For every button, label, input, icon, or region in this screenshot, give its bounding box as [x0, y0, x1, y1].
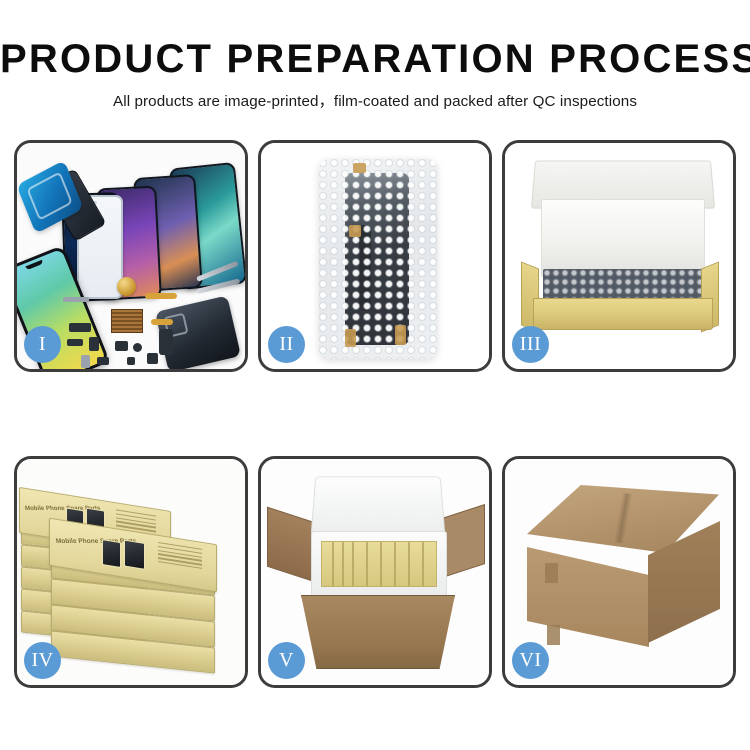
step-badge-6: VI [512, 642, 549, 679]
step-badge-1: I [24, 326, 61, 363]
part-block-2 [81, 355, 90, 368]
process-step-grid: I II III [14, 140, 736, 688]
part-block-6 [127, 357, 135, 365]
part-block-5 [147, 353, 158, 364]
part-strip-2 [69, 323, 91, 332]
part-strip-3 [67, 339, 83, 346]
process-step-panel-1[interactable]: I [14, 140, 248, 372]
styrofoam-lid [311, 476, 446, 535]
process-step-panel-6[interactable]: VI [502, 456, 736, 688]
bubble-wrap-pouch [319, 159, 437, 359]
process-step-panel-4[interactable]: Mobile Phone Spare Parts Mobile Phone Sp… [14, 456, 248, 688]
tape-tab-4 [395, 325, 406, 345]
box-screen-thumb-4 [124, 540, 145, 570]
part-block-3 [97, 357, 109, 365]
carton-front-wall [301, 595, 455, 669]
page-header: PRODUCT PREPARATION PROCESS All products… [0, 0, 750, 111]
speaker-module-icon [117, 277, 136, 296]
carton-tape-upper [545, 563, 558, 583]
bubble-wrap-layer [543, 269, 703, 301]
page-subtitle: All products are image-printed，film-coat… [0, 89, 750, 111]
camera-module [159, 329, 173, 355]
box-stack: Mobile Phone Spare Parts Mobile Phone Sp… [19, 477, 245, 673]
bubble-texture [319, 159, 437, 359]
part-block-1 [89, 337, 99, 351]
box-screen-thumb-3 [102, 539, 121, 568]
tape-tab-2 [349, 225, 361, 237]
step-badge-4: IV [24, 642, 61, 679]
logic-board-chip [111, 309, 143, 333]
part-block-4 [115, 341, 128, 351]
tape-tab-3 [345, 329, 356, 347]
page-title: PRODUCT PREPARATION PROCESS [0, 38, 750, 80]
step-badge-5: V [268, 642, 305, 679]
tweezers-tool [197, 271, 243, 311]
step-badge-2: II [268, 326, 305, 363]
part-strip-1 [63, 297, 89, 302]
foam-sheet [541, 199, 705, 277]
box-front-wall [533, 298, 713, 330]
process-step-panel-2[interactable]: II [258, 140, 492, 372]
flex-cable-2 [151, 319, 173, 325]
tape-tab-1 [353, 163, 366, 173]
flex-cable-1 [145, 293, 177, 299]
yellow-packed-boxes [321, 541, 437, 587]
carton-tape-lower [547, 625, 560, 645]
process-step-panel-3[interactable]: III [502, 140, 736, 372]
small-parts-cluster [63, 283, 203, 369]
step-badge-3: III [512, 326, 549, 363]
part-round-1 [133, 343, 142, 352]
process-step-panel-5[interactable]: V [258, 456, 492, 688]
